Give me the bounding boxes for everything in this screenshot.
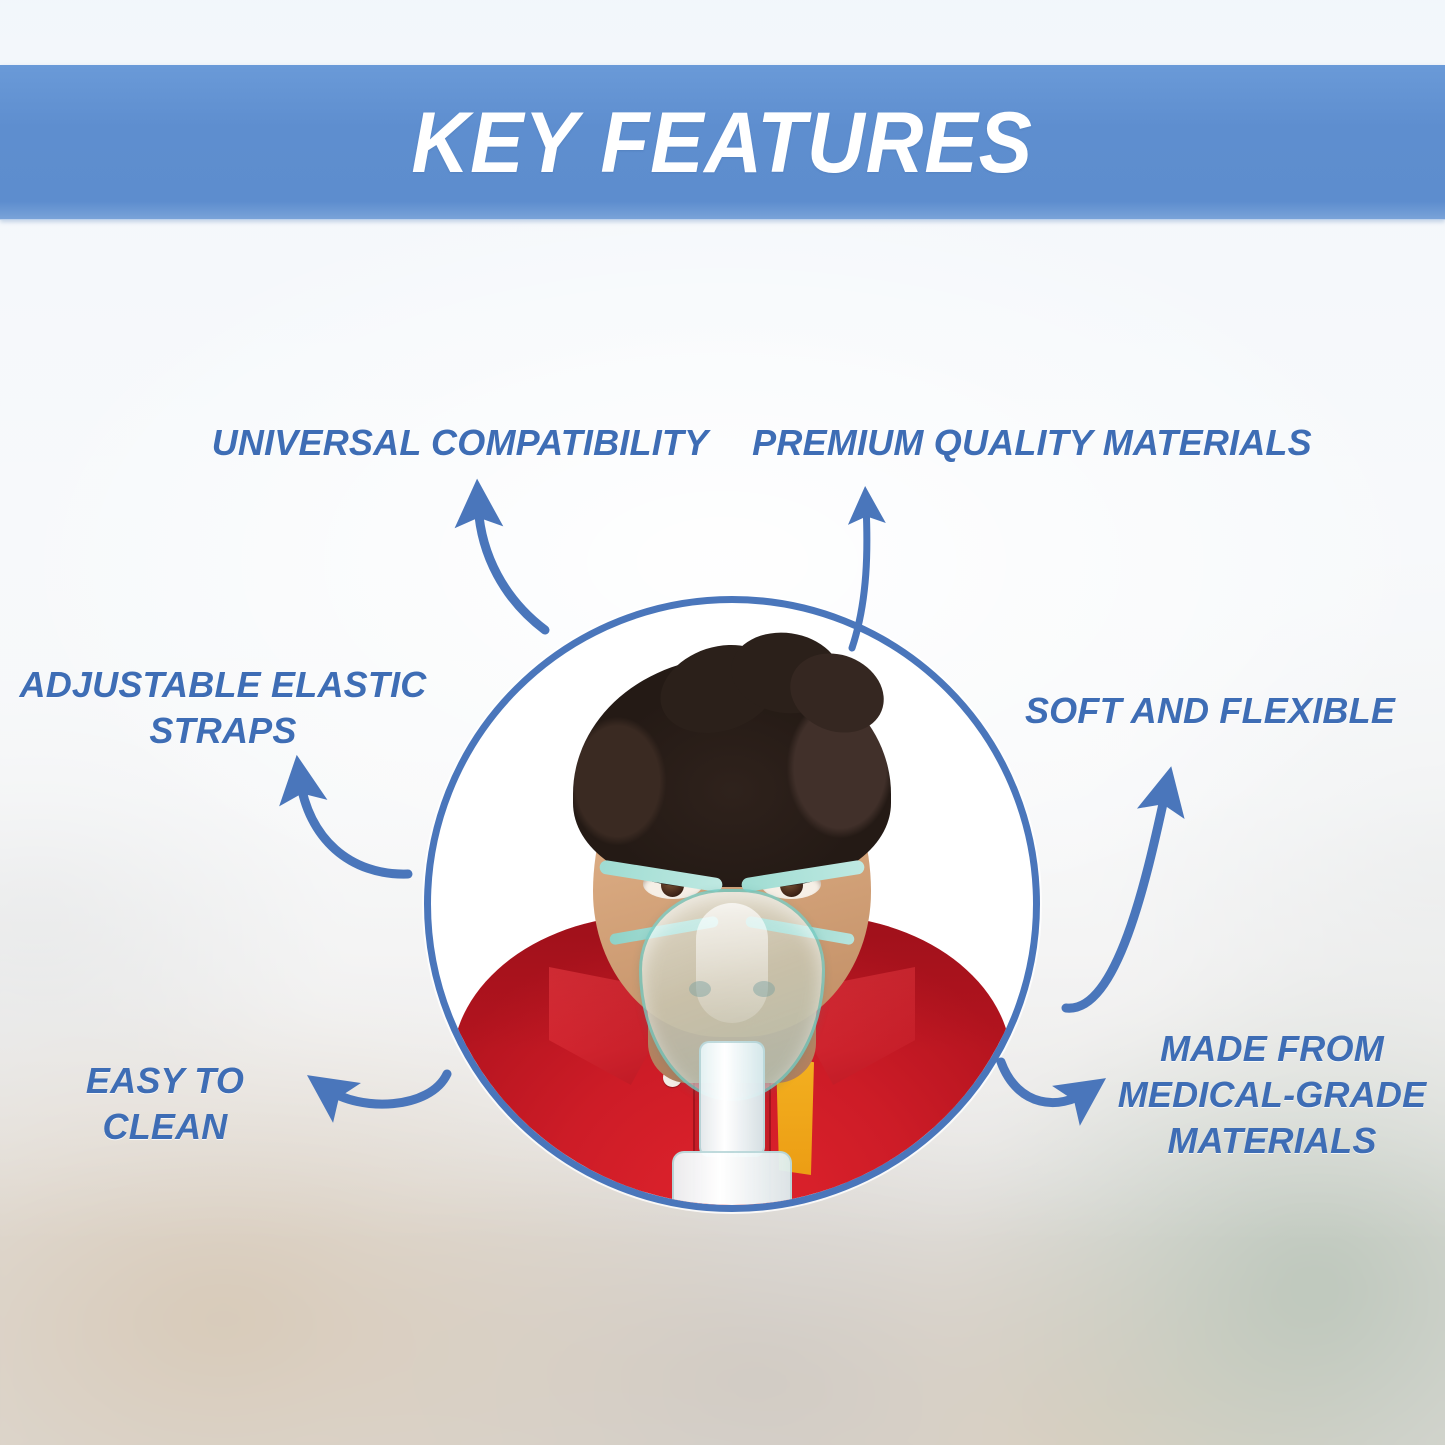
feature-label-universal-compatibility: UNIVERSAL COMPATIBILITY	[200, 420, 720, 466]
mask-vent-left	[689, 981, 711, 997]
feature-label-made-from-medical-grade: MADE FROM MEDICAL-GRADE MATERIALS	[1112, 1026, 1432, 1164]
feature-label-soft-and-flexible: SOFT AND FLEXIBLE	[1020, 688, 1400, 734]
feature-label-easy-to-clean: EASY TO CLEAN	[20, 1058, 310, 1150]
page-title: KEY FEATURES	[412, 100, 1033, 186]
mask-vent-right	[753, 981, 775, 997]
product-photo-circle	[424, 596, 1040, 1212]
mask-ridge	[696, 903, 768, 1023]
feature-label-premium-quality-materials: PREMIUM QUALITY MATERIALS	[752, 420, 1312, 466]
nebulizer-chamber	[672, 1151, 792, 1212]
infographic-canvas: KEY FEATURES	[0, 0, 1445, 1445]
boy-with-nebulizer-mask-photo	[431, 603, 1033, 1205]
feature-label-adjustable-elastic-straps: ADJUSTABLE ELASTIC STRAPS	[18, 662, 428, 754]
mask-connector-tube	[699, 1041, 765, 1157]
header-banner: KEY FEATURES	[0, 65, 1445, 220]
